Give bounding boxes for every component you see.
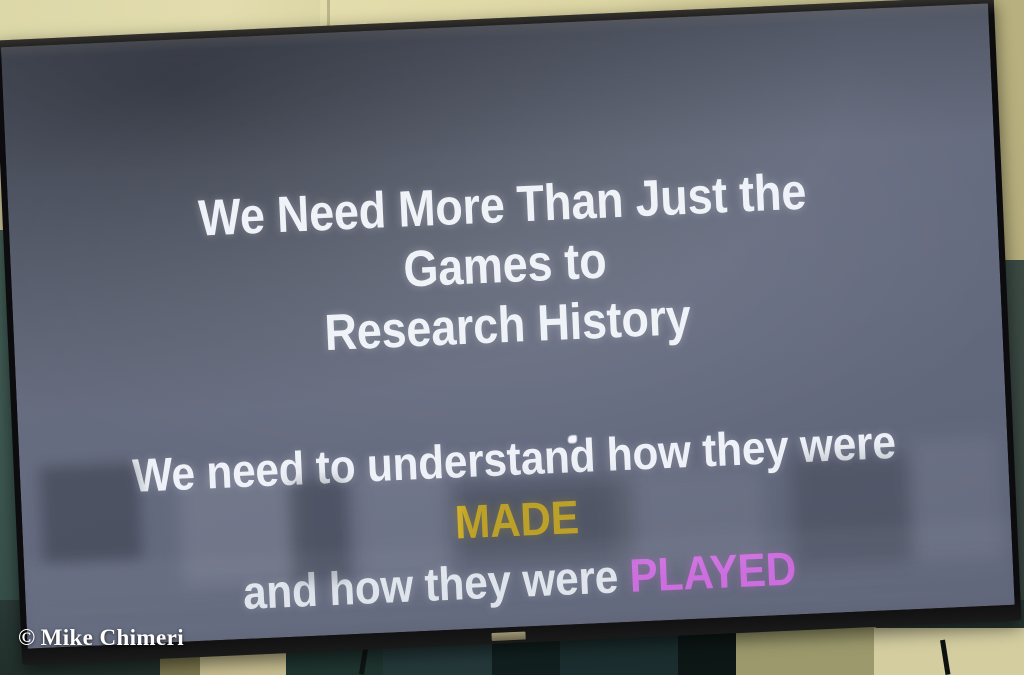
television: We Need More Than Just the Games to Rese… (0, 0, 1021, 665)
slide-body: We need to understand how they were MADE… (95, 409, 938, 629)
slide-body-line-1-text: We need to understand how they were (131, 414, 896, 501)
tv-brand-badge (491, 632, 525, 642)
highlight-played: PLAYED (628, 541, 797, 601)
watermark-name: Mike Chimeri (41, 625, 184, 650)
highlight-made: MADE (453, 490, 579, 548)
photo-watermark: ©Mike Chimeri (18, 625, 184, 651)
photo-scene: We Need More Than Just the Games to Rese… (0, 0, 1024, 675)
tv-screen: We Need More Than Just the Games to Rese… (1, 3, 1015, 648)
background-object (736, 625, 876, 675)
presentation-slide: We Need More Than Just the Games to Rese… (1, 3, 1015, 648)
slide-body-line-2-text: and how they were (241, 549, 630, 619)
slide-title: We Need More Than Just the Games to Rese… (128, 159, 883, 373)
copyright-icon: © (18, 625, 36, 650)
